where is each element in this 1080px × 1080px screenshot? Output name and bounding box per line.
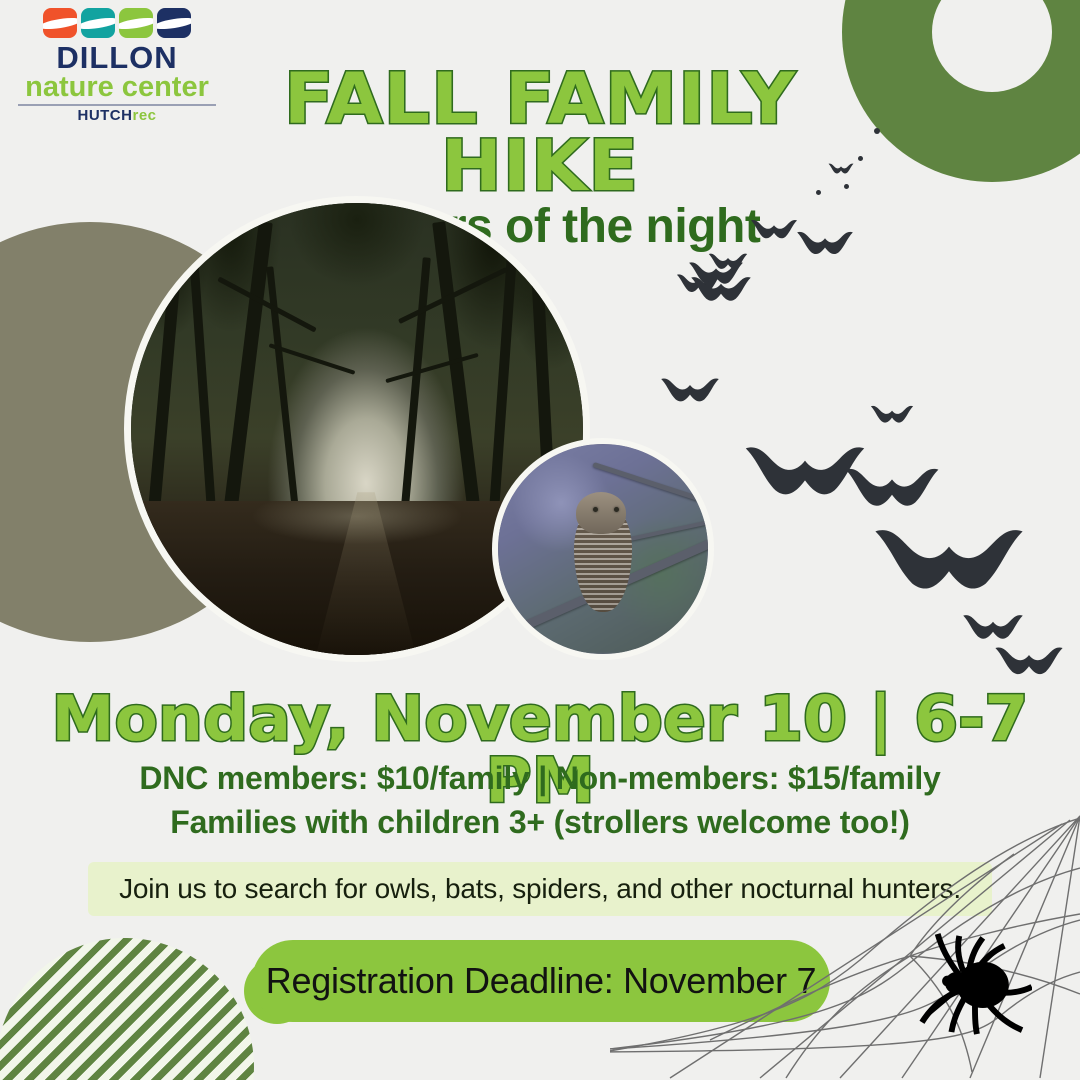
bat-icon	[828, 160, 854, 178]
bat-icon	[994, 640, 1064, 684]
bat-icon	[796, 224, 854, 264]
event-pricing: DNC members: $10/family | Non-members: $…	[0, 760, 1080, 797]
logo-text-rec: rec	[132, 107, 156, 124]
event-flyer: DILLON nature center HUTCHrec FALL FAMIL…	[0, 0, 1080, 1080]
owl-photo	[492, 438, 714, 660]
striped-circle-decoration	[0, 938, 254, 1080]
spider-icon	[914, 932, 1032, 1036]
bat-speck	[816, 190, 821, 195]
bat-icon	[690, 268, 752, 312]
bat-icon	[870, 400, 914, 430]
bat-speck	[874, 128, 880, 134]
logo-chip-green	[119, 8, 153, 38]
bat-speck	[844, 184, 849, 189]
bat-icon	[868, 516, 1030, 608]
logo-chip-navy	[157, 8, 191, 38]
bat-icon	[840, 460, 944, 518]
event-title: FALL FAMILY HIKE	[186, 66, 893, 199]
bat-icon	[660, 370, 720, 412]
owl-artwork	[498, 444, 708, 654]
bat-icon	[750, 214, 798, 246]
logo-chip-teal	[81, 8, 115, 38]
logo-chips	[12, 8, 222, 38]
logo-chip-orange	[43, 8, 77, 38]
logo-text-hutch: HUTCH	[77, 107, 132, 124]
bat-speck	[858, 156, 863, 161]
